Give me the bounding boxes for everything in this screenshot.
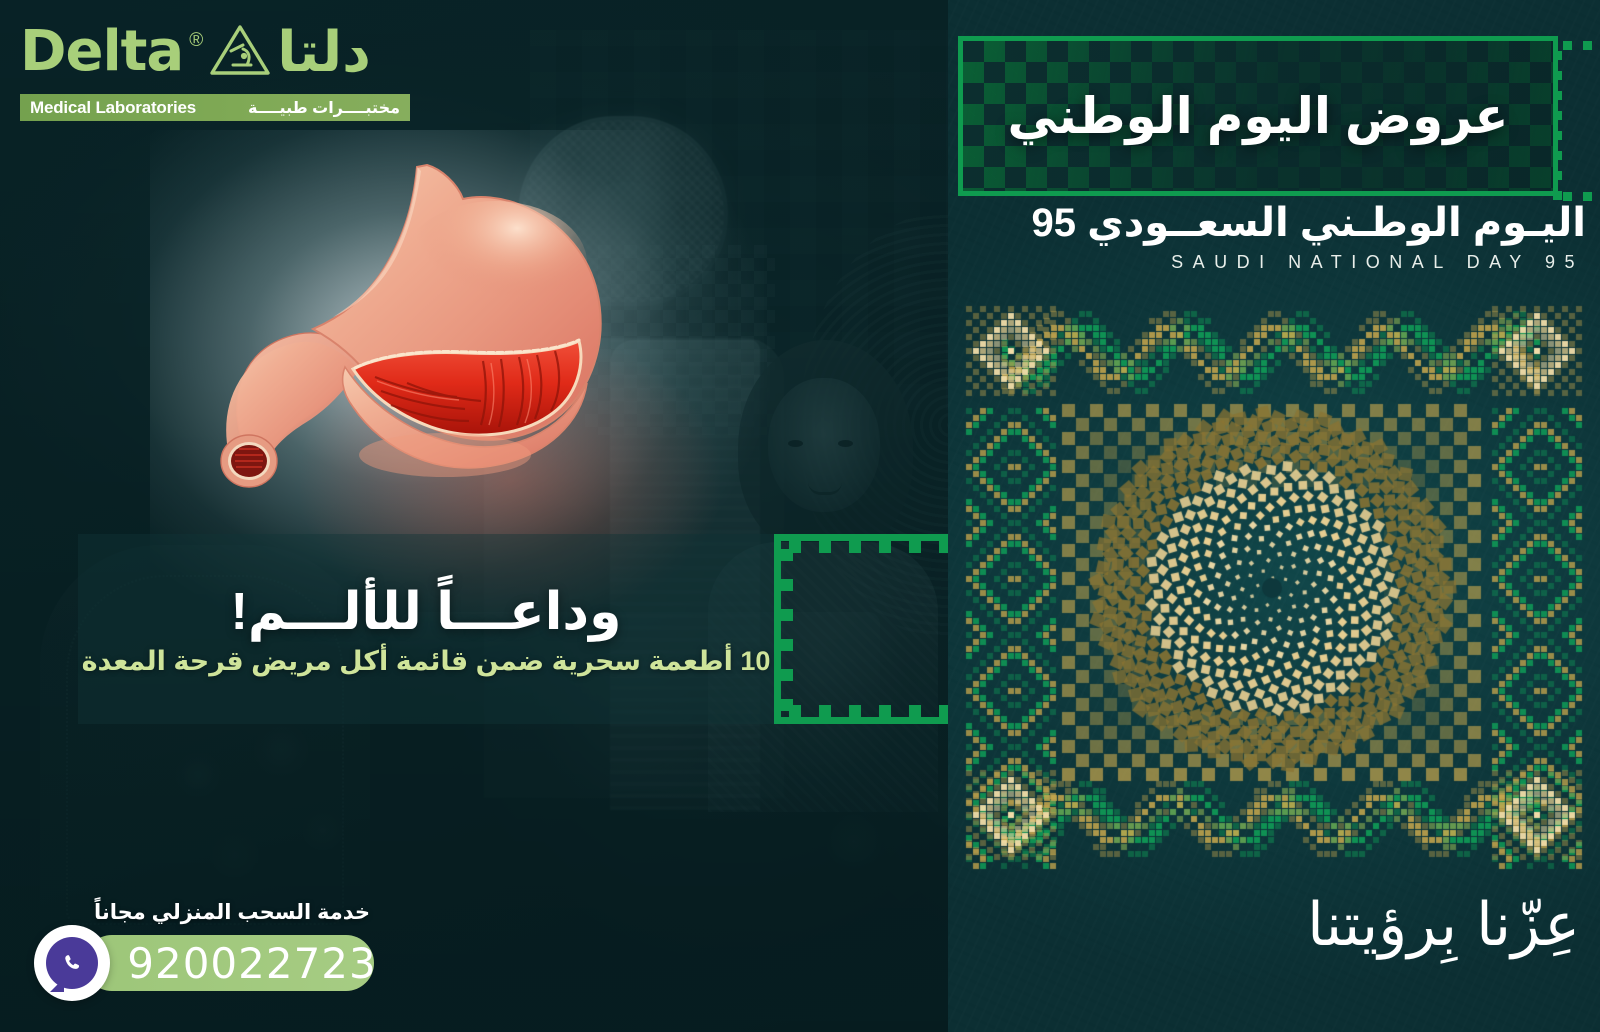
logo-tagline-ar: مختبــــرات طبيــــة bbox=[248, 98, 400, 118]
frame-segment bbox=[1553, 171, 1562, 180]
phone-handset-icon bbox=[58, 949, 86, 977]
home-service-note: خدمة السحب المنزلي مجاناً bbox=[94, 900, 370, 925]
stomach-cross-section-illustration bbox=[195, 155, 615, 515]
frame-segment bbox=[1553, 191, 1562, 200]
frame-segment bbox=[1553, 91, 1562, 100]
frame-segment bbox=[1563, 41, 1572, 50]
frame-segment bbox=[1553, 111, 1562, 120]
frame-segment bbox=[1553, 51, 1562, 60]
whatsapp-icon[interactable] bbox=[34, 925, 110, 1001]
microscope-triangle-icon bbox=[209, 23, 271, 82]
offer-title: عروض اليوم الوطني bbox=[963, 41, 1553, 191]
brand-logo[interactable]: Delta ® دلتا Medical Laboratories مختبــ… bbox=[14, 10, 414, 120]
whatsapp-bubble bbox=[46, 937, 98, 989]
national-day-panel: عروض اليوم الوطني اليـوم الوطـني السعــو… bbox=[948, 0, 1600, 1032]
frame-segment bbox=[1553, 131, 1562, 140]
logo-wordmark-row: Delta ® دلتا bbox=[20, 18, 412, 86]
frame-segment bbox=[1583, 41, 1592, 50]
headline-subtitle: 10 أطعمة سحرية ضمن قائمة أكل مريض قرحة ا… bbox=[82, 646, 771, 677]
headline-title: وداعـــاً للألـــم! bbox=[231, 582, 622, 642]
offer-banner[interactable]: عروض اليوم الوطني bbox=[958, 36, 1558, 196]
registered-mark-icon: ® bbox=[189, 30, 203, 52]
sadu-pattern-canvas bbox=[962, 300, 1586, 870]
contact-block[interactable]: خدمة السحب المنزلي مجاناً 920022723 bbox=[18, 900, 378, 1016]
headline-box: وداعـــاً للألـــم! 10 أطعمة سحرية ضمن ق… bbox=[78, 534, 774, 724]
national-day-arabic: اليـوم الوطـني السعــودي 95 bbox=[948, 200, 1586, 246]
national-day-slogan: عِزّنا بِرؤيتنا bbox=[948, 890, 1580, 960]
phone-pill[interactable]: 920022723 bbox=[84, 935, 374, 991]
national-day-english: SAUDI NATIONAL DAY 95 bbox=[948, 252, 1584, 273]
phone-number: 920022723 bbox=[127, 939, 377, 988]
logo-name-ar: دلتا bbox=[277, 24, 371, 80]
frame-segment bbox=[1553, 71, 1562, 80]
logo-tagline-en: Medical Laboratories bbox=[30, 98, 196, 118]
logo-name-en: Delta bbox=[20, 24, 183, 80]
frame-segment bbox=[1553, 151, 1562, 160]
headline-text-group: وداعـــاً للألـــم! 10 أطعمة سحرية ضمن ق… bbox=[78, 534, 774, 724]
poster-canvas: وداعـــاً للألـــم! 10 أطعمة سحرية ضمن ق… bbox=[0, 0, 1600, 1032]
logo-tagline-band: Medical Laboratories مختبــــرات طبيــــ… bbox=[20, 94, 410, 121]
